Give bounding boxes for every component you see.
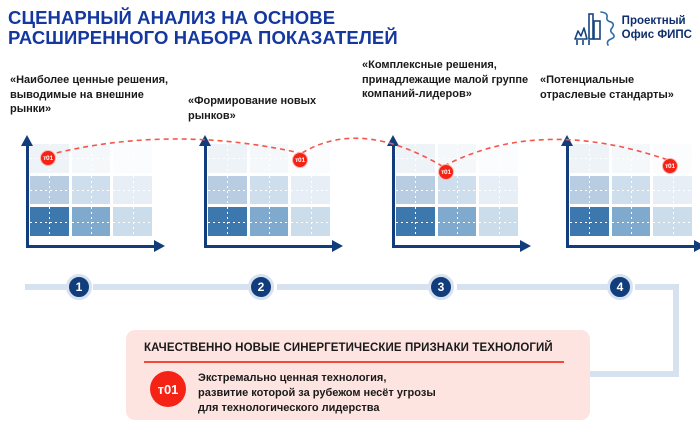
synergy-body-line1: Экстремально ценная технология, [198, 371, 572, 386]
chart-caption-3: «Комплексные решения, принадлежащие мало… [362, 58, 532, 102]
heatmap-cell [612, 144, 651, 173]
heatmap-cell [250, 176, 289, 205]
heatmap-cell [653, 207, 692, 236]
brand-logo-line2: Офис ФИПС [622, 28, 692, 42]
chart-panel-2: т01 [186, 140, 346, 255]
y-axis-arrow-icon [199, 135, 211, 146]
x-axis [204, 245, 334, 248]
chart-caption-1: «Наиболее ценные решения, выводимые на в… [10, 73, 170, 117]
heatmap-cell [479, 176, 518, 205]
brand-logo-line1: Проектный [622, 14, 692, 28]
x-axis-arrow-icon [154, 240, 165, 252]
heatmap-cell [113, 207, 152, 236]
x-axis [26, 245, 156, 248]
heatmap-cell [30, 176, 69, 205]
heatmap-cell [570, 207, 609, 236]
heatmap-grid-2 [208, 144, 330, 236]
chart-panel-4: т01 [548, 140, 700, 255]
heatmap-cell [291, 207, 330, 236]
heatmap-cell [612, 207, 651, 236]
infographic-root: СЦЕНАРНЫЙ АНАЛИЗ НА ОСНОВЕ РАСШИРЕННОГО … [0, 0, 700, 425]
heatmap-cell [570, 144, 609, 173]
heatmap-cell [479, 207, 518, 236]
x-axis-arrow-icon [694, 240, 700, 252]
heatmap-cell [72, 207, 111, 236]
heatmap-cell [72, 176, 111, 205]
x-axis-arrow-icon [332, 240, 343, 252]
heatmap-cell [113, 144, 152, 173]
y-axis [204, 144, 207, 248]
y-axis [26, 144, 29, 248]
heatmap-cell [208, 207, 247, 236]
y-axis [392, 144, 395, 248]
page-title-line1: СЦЕНАРНЫЙ АНАЛИЗ НА ОСНОВЕ [8, 7, 335, 28]
heatmap-cell [438, 176, 477, 205]
y-axis-arrow-icon [561, 135, 573, 146]
step-circle-2[interactable]: 2 [248, 274, 274, 300]
page-title: СЦЕНАРНЫЙ АНАЛИЗ НА ОСНОВЕ РАСШИРЕННОГО … [8, 8, 528, 48]
synergy-body-line2: развитие которой за рубежом несёт угрозы [198, 386, 572, 401]
y-axis-arrow-icon [387, 135, 399, 146]
heatmap-cell [396, 176, 435, 205]
x-axis-arrow-icon [520, 240, 531, 252]
technology-marker-2[interactable]: т01 [292, 152, 308, 168]
synergy-body-line3: для технологического лидерства [198, 401, 572, 416]
heatmap-cell [570, 176, 609, 205]
city-skyline-gear-icon [571, 9, 615, 47]
heatmap-cell [208, 176, 247, 205]
synergy-panel-heading: КАЧЕСТВЕННО НОВЫЕ СИНЕРГЕТИЧЕСКИЕ ПРИЗНА… [144, 342, 574, 354]
heatmap-cell [612, 176, 651, 205]
step-circle-1[interactable]: 1 [66, 274, 92, 300]
heatmap-cell [653, 176, 692, 205]
x-axis [392, 245, 522, 248]
heatmap-cell [250, 207, 289, 236]
y-axis [566, 144, 569, 248]
chart-panel-3: т01 [374, 140, 534, 255]
page-title-line2: РАСШИРЕННОГО НАБОРА ПОКАЗАТЕЛЕЙ [8, 28, 528, 48]
heatmap-cell [396, 144, 435, 173]
heatmap-cell [113, 176, 152, 205]
heatmap-cell [72, 144, 111, 173]
synergy-panel-divider [144, 361, 564, 363]
heatmap-cell [479, 144, 518, 173]
heatmap-cell [291, 176, 330, 205]
heatmap-cell [250, 144, 289, 173]
heatmap-cell [438, 207, 477, 236]
chart-caption-4: «Потенциальные отраслевые стандарты» [540, 73, 700, 102]
technology-marker-4[interactable]: т01 [662, 158, 678, 174]
brand-logo-text: Проектный Офис ФИПС [622, 14, 692, 42]
heatmap-grid-4 [570, 144, 692, 236]
step-circle-4[interactable]: 4 [607, 274, 633, 300]
technology-marker-3[interactable]: т01 [438, 164, 454, 180]
heatmap-cell [396, 207, 435, 236]
chart-caption-2: «Формирование новых рынков» [188, 94, 348, 123]
heatmap-cell [208, 144, 247, 173]
technology-badge[interactable]: т01 [150, 371, 186, 407]
chart-panel-1: т01 [8, 140, 168, 255]
heatmap-cell [30, 207, 69, 236]
technology-marker-1[interactable]: т01 [40, 150, 56, 166]
heatmap-grid-3 [396, 144, 518, 236]
synergy-panel-body: Экстремально ценная технология, развитие… [198, 371, 572, 416]
x-axis [566, 245, 696, 248]
synergy-panel: КАЧЕСТВЕННО НОВЫЕ СИНЕРГЕТИЧЕСКИЕ ПРИЗНА… [126, 330, 590, 420]
step-circle-3[interactable]: 3 [428, 274, 454, 300]
brand-logo: Проектный Офис ФИПС [571, 9, 692, 47]
y-axis-arrow-icon [21, 135, 33, 146]
